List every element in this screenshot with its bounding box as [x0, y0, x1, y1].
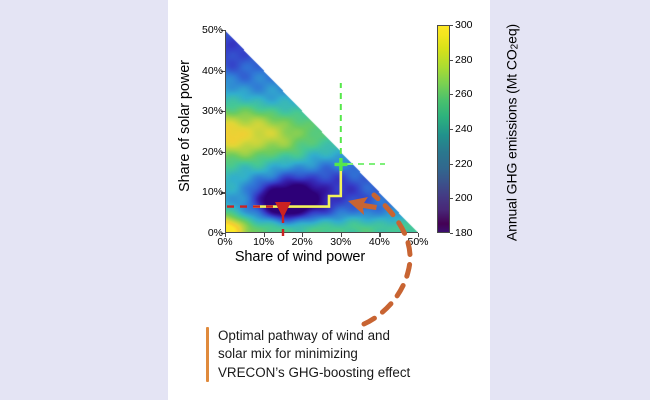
- colorbar-label-main: Annual GHG emissions (Mt CO: [504, 49, 520, 241]
- x-tick-label: 50%: [407, 236, 428, 248]
- y-tick-label: 10%: [202, 186, 223, 198]
- colorbar-tick-mark: [450, 198, 453, 199]
- colorbar-tick-label: 220: [455, 158, 473, 170]
- colorbar-ticks: 180200220240260280300: [437, 25, 497, 233]
- colorbar-tick-mark: [450, 60, 453, 61]
- x-tick-label: 0%: [217, 236, 232, 248]
- colorbar-tick-mark: [450, 129, 453, 130]
- caption-line-1: Optimal pathway of wind and: [218, 327, 410, 345]
- colorbar-label-tail: eq): [504, 24, 520, 44]
- x-tick-label: 30%: [330, 236, 351, 248]
- plot-area: 0%10%20%30%40%50% 0%10%20%30%40%50%: [225, 30, 418, 233]
- x-tick-label: 40%: [369, 236, 390, 248]
- y-tick-label: 30%: [202, 105, 223, 117]
- colorbar-tick-mark: [450, 164, 453, 165]
- colorbar-tick-mark: [450, 94, 453, 95]
- colorbar-tick-label: 280: [455, 54, 473, 66]
- y-tick-label: 40%: [202, 65, 223, 77]
- y-axis-label: Share of solar power: [177, 36, 193, 216]
- content-panel: Share of solar power Share of wind power…: [168, 0, 490, 400]
- colorbar-tick-label: 300: [455, 19, 473, 31]
- colorbar-tick-mark: [450, 25, 453, 26]
- colorbar-tick-mark: [450, 233, 453, 234]
- plot-frame: [225, 30, 418, 233]
- colorbar-axis-label: Annual GHG emissions (Mt CO2eq): [504, 0, 521, 267]
- x-tick-label: 10%: [253, 236, 274, 248]
- colorbar-label-subscript: 2: [510, 44, 521, 49]
- caption-block: Optimal pathway of wind and solar mix fo…: [206, 327, 456, 382]
- x-tick-label: 20%: [292, 236, 313, 248]
- y-tick-label: 50%: [202, 24, 223, 36]
- caption-line-2: solar mix for minimizing: [218, 345, 410, 363]
- caption-accent-bar: [206, 327, 209, 382]
- x-axis-label: Share of wind power: [190, 249, 410, 265]
- colorbar-tick-label: 180: [455, 227, 473, 239]
- figure-chart: Share of solar power Share of wind power…: [168, 0, 490, 300]
- colorbar-tick-label: 260: [455, 88, 473, 100]
- colorbar-tick-label: 240: [455, 123, 473, 135]
- y-tick-label: 20%: [202, 146, 223, 158]
- screenshot-root: Share of solar power Share of wind power…: [0, 0, 650, 400]
- caption-text: Optimal pathway of wind and solar mix fo…: [218, 327, 410, 382]
- caption-line-3: VRECON’s GHG-boosting effect: [218, 364, 410, 382]
- colorbar-tick-label: 200: [455, 192, 473, 204]
